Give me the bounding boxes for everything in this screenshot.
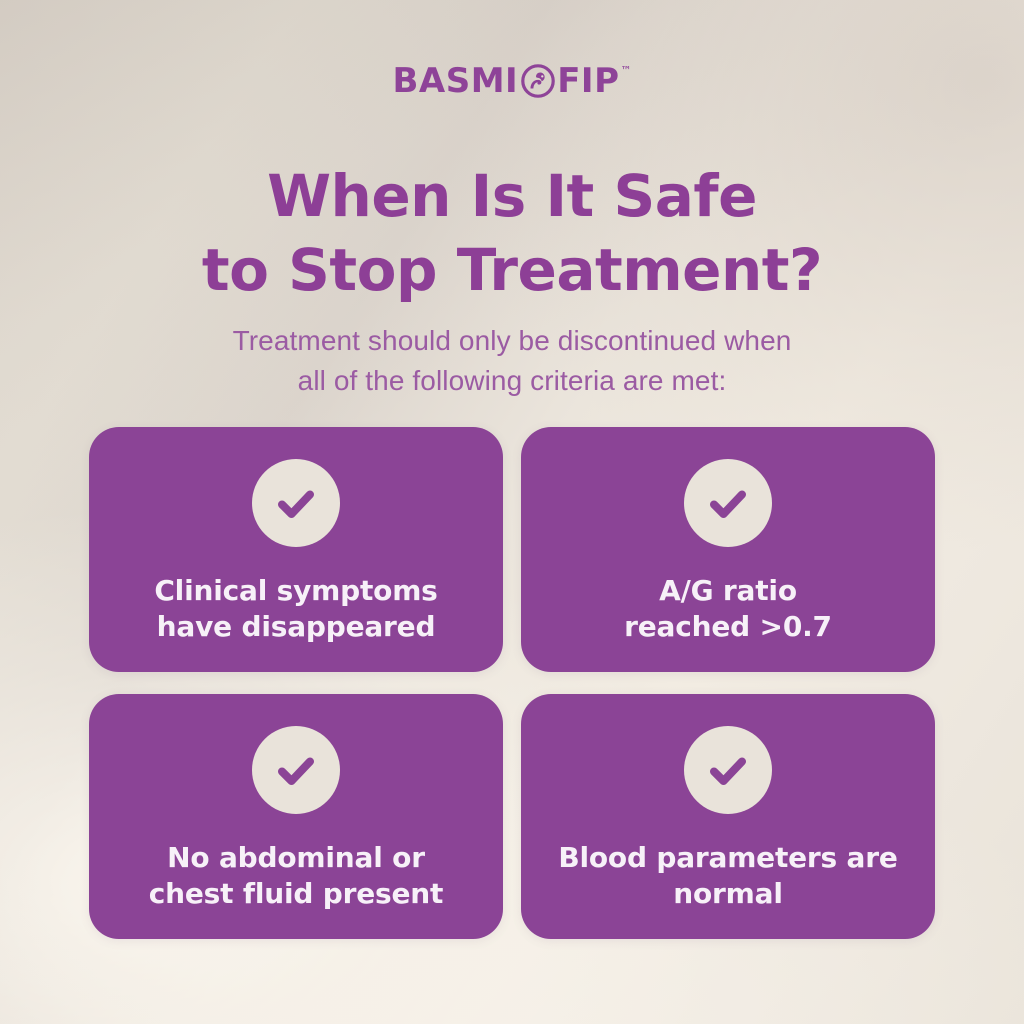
brand-logo-inner: BASMI FIP ™	[393, 63, 632, 99]
criteria-card-label-line-1: Blood parameters are	[558, 840, 897, 876]
criteria-card-label-line-2: reached >0.7	[624, 609, 832, 645]
brand-logo: BASMI FIP ™	[0, 58, 1024, 104]
page-subtitle-line-1: Treatment should only be discontinued wh…	[0, 321, 1024, 361]
poster-canvas: BASMI FIP ™ When Is It Safe to Stop Trea…	[0, 0, 1024, 1024]
page-title: When Is It Safe to Stop Treatment?	[0, 159, 1024, 307]
criteria-card-clinical-symptoms: Clinical symptoms have disappeared	[89, 427, 503, 672]
check-circle-icon	[684, 459, 772, 547]
check-circle-icon	[252, 459, 340, 547]
brand-name-first: BASMI	[393, 64, 519, 98]
page-title-line-1: When Is It Safe	[0, 159, 1024, 233]
criteria-card-label: No abdominal or chest fluid present	[127, 840, 465, 913]
criteria-card-grid: Clinical symptoms have disappeared A/G r…	[89, 427, 935, 939]
criteria-card-label-line-1: A/G ratio	[624, 573, 832, 609]
criteria-card-label: Clinical symptoms have disappeared	[132, 573, 459, 646]
poster-content: BASMI FIP ™ When Is It Safe to Stop Trea…	[0, 0, 1024, 1024]
criteria-card-ag-ratio: A/G ratio reached >0.7	[521, 427, 935, 672]
criteria-card-label-line-2: normal	[558, 876, 897, 912]
check-circle-icon	[684, 726, 772, 814]
check-circle-icon	[252, 726, 340, 814]
criteria-card-label-line-2: chest fluid present	[149, 876, 443, 912]
criteria-card-label-line-1: No abdominal or	[149, 840, 443, 876]
criteria-card-label-line-1: Clinical symptoms	[154, 573, 437, 609]
cat-circle-logo-icon	[520, 63, 556, 99]
page-title-line-2: to Stop Treatment?	[0, 233, 1024, 307]
criteria-card-label: Blood parameters are normal	[536, 840, 919, 913]
page-subtitle: Treatment should only be discontinued wh…	[0, 321, 1024, 401]
brand-name-second: FIP	[557, 64, 619, 98]
criteria-card-label-line-2: have disappeared	[154, 609, 437, 645]
criteria-card-label: A/G ratio reached >0.7	[602, 573, 854, 646]
criteria-card-blood-parameters: Blood parameters are normal	[521, 694, 935, 939]
page-subtitle-line-2: all of the following criteria are met:	[0, 361, 1024, 401]
trademark-symbol: ™	[621, 65, 632, 76]
criteria-card-no-fluid: No abdominal or chest fluid present	[89, 694, 503, 939]
